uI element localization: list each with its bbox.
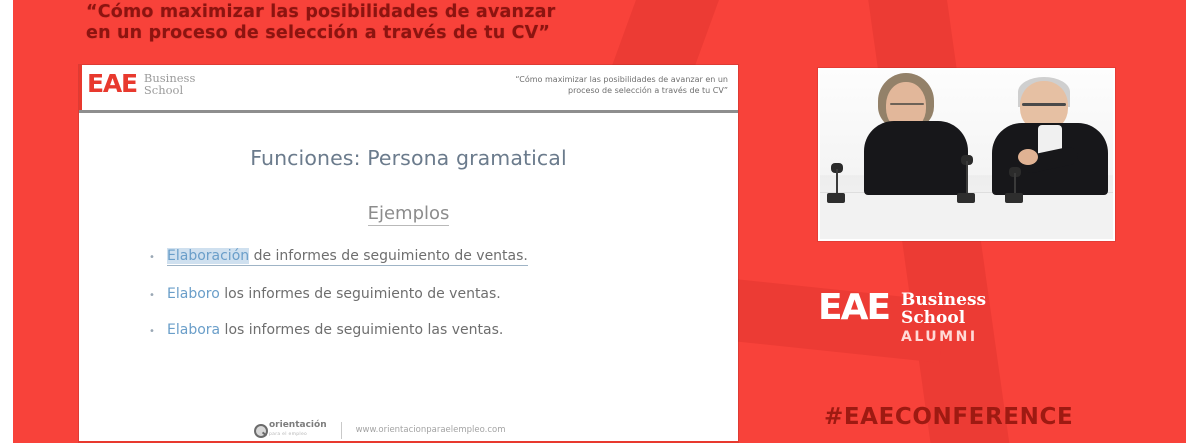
broadcast-stage: “Cómo maximizar las posibilidades de ava… [0, 0, 1200, 443]
microphone-base [827, 193, 845, 203]
bullet-lead-word: Elaboración [167, 248, 249, 264]
bullet-marker: • [149, 252, 167, 263]
slide-bullet-list: • Elaboración de informes de seguimiento… [79, 248, 738, 338]
alumni-business-text: Business [901, 291, 986, 309]
magnifier-icon [254, 424, 267, 437]
slide-footer: orientación para el empleo www.orientaci… [79, 417, 738, 443]
bullet-text: Elabora los informes de seguimiento las … [167, 322, 503, 338]
eae-logo-text: EAE [87, 71, 137, 97]
footer-url: www.orientacionparaelempleo.com [356, 425, 506, 435]
eae-alumni-logo: EAE Business School ALUMNI [818, 290, 986, 346]
bullet-lead-word: Elaboro [167, 286, 220, 302]
orientacion-brand: orientación para el empleo [254, 421, 327, 439]
footer-divider [341, 422, 342, 439]
speaker-video-feed[interactable] [818, 68, 1115, 241]
speaker-left [860, 73, 968, 193]
alumni-logo-right: Business School ALUMNI [901, 291, 986, 346]
slide-title: Funciones: Persona gramatical [79, 146, 738, 170]
bullet-rest-text: de informes de seguimiento de ventas. [249, 248, 528, 264]
broadcast-title: “Cómo maximizar las posibilidades de ava… [86, 2, 646, 44]
bullet-marker: • [149, 290, 167, 301]
video-scene [820, 70, 1113, 239]
list-item: • Elabora los informes de seguimiento la… [79, 322, 738, 338]
bullet-rest-text: los informes de seguimiento de ventas. [220, 286, 501, 302]
eae-slide-logo: EAE Business School [87, 71, 195, 97]
slide-subtitle: Ejemplos [79, 203, 738, 224]
slide-header-red-tick [79, 65, 82, 113]
speaker-left-body [864, 121, 968, 195]
slide-header-quote: “Cómo maximizar las posibilidades de ava… [438, 74, 728, 96]
eae-logo-school: School [144, 83, 183, 97]
speaker-right-glasses-icon [1022, 103, 1066, 106]
slide-body: Funciones: Persona gramatical Ejemplos •… [79, 113, 738, 428]
alumni-school-text: School [901, 309, 986, 327]
bullet-lead-word: Elabora [167, 322, 220, 338]
list-item: • Elaboración de informes de seguimiento… [79, 248, 738, 266]
speaker-right-hand [1018, 149, 1038, 165]
microphone-base [957, 193, 975, 203]
microphone-base [1005, 193, 1023, 203]
bullet-marker: • [149, 326, 167, 337]
orientacion-brand-text: orientación para el empleo [269, 421, 327, 439]
eae-logo-subtitle: Business School [144, 72, 195, 97]
alumni-eae-text: EAE [818, 290, 889, 326]
speaker-left-glasses-icon [890, 103, 924, 105]
orientacion-name: orientación [269, 421, 327, 430]
list-item: • Elaboro los informes de seguimiento de… [79, 286, 738, 302]
alumni-word-text: ALUMNI [901, 328, 986, 346]
bullet-text: Elaboro los informes de seguimiento de v… [167, 286, 501, 302]
orientacion-tagline: para el empleo [269, 430, 327, 439]
presentation-slide[interactable]: EAE Business School “Cómo maximizar las … [79, 65, 738, 443]
event-hashtag: #EAECONFERENCE [824, 404, 1073, 430]
slide-subtitle-text: Ejemplos [368, 203, 450, 226]
bullet-rest-text: los informes de seguimiento las ventas. [220, 322, 503, 338]
slide-header: EAE Business School “Cómo maximizar las … [79, 65, 738, 110]
eae-alumni-logo-row: EAE Business School ALUMNI [818, 290, 986, 346]
bullet-text: Elaboración de informes de seguimiento d… [167, 248, 528, 266]
